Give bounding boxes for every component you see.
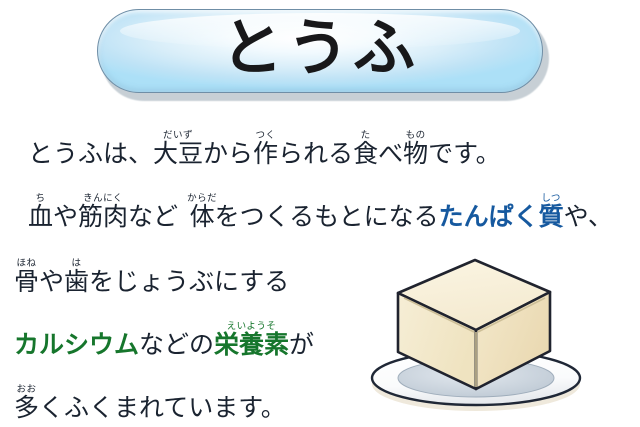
- line5-seg-1: くふくまれています。: [39, 394, 286, 422]
- line2-seg-3: など: [128, 203, 178, 231]
- line1-ruby-mono: 物もの: [403, 140, 428, 168]
- line5-ruby-oo: 多おお: [14, 394, 39, 422]
- line2-ruby-chi: 血ち: [28, 203, 53, 231]
- infographic-page: とうふ とうふは、大豆だいずから作つくられる食たべ物ものです。 血ちや筋肉きんに…: [0, 0, 640, 427]
- line1-ruby-tsuku: 作つく: [253, 140, 278, 168]
- line4-ruby-eiyouso: 栄養素えいようそ: [214, 331, 289, 359]
- line2-ruby-kinniku: 筋肉きんにく: [78, 203, 128, 231]
- line1-ruby-daizu: 大豆だいず: [153, 140, 203, 168]
- tofu-illustration: [368, 248, 630, 414]
- line4-highlight-calcium: カルシウム: [14, 331, 139, 359]
- line2-ruby-shitsu: 質しつ: [539, 203, 564, 231]
- line3-ruby-hone: 骨ほね: [14, 268, 39, 296]
- line1-seg-4: られる: [278, 140, 353, 168]
- line1-seg-2: から: [203, 140, 253, 168]
- line3-seg-3: をじょうぶにする: [89, 268, 289, 296]
- line3-seg-1: や: [39, 268, 64, 296]
- line1-seg-0: とうふは、: [28, 140, 153, 168]
- line1-seg-8: です。: [428, 140, 501, 168]
- line4-seg-1: などの: [139, 331, 214, 359]
- line2-seg-9: や、: [564, 203, 613, 231]
- title-banner: とうふ: [97, 9, 549, 101]
- line1-seg-6: べ: [378, 140, 403, 168]
- page-title: とうふ: [97, 9, 543, 93]
- text-line-2: 血ちや筋肉きんにくなど体からだをつくるもとになるたんぱく質しつや、: [28, 193, 640, 230]
- line2-ruby-karada: 体からだ: [187, 203, 215, 231]
- line3-ruby-ha: 歯は: [64, 268, 89, 296]
- line2-seg-1: や: [53, 203, 78, 231]
- line2-highlight-tanpaku: たんぱく: [439, 203, 539, 231]
- text-line-1: とうふは、大豆だいずから作つくられる食たべ物ものです。: [28, 130, 640, 167]
- line4-seg-3: が: [289, 331, 314, 359]
- line1-ruby-ta: 食た: [353, 140, 378, 168]
- line2-seg-6: をつくるもとになる: [215, 203, 439, 231]
